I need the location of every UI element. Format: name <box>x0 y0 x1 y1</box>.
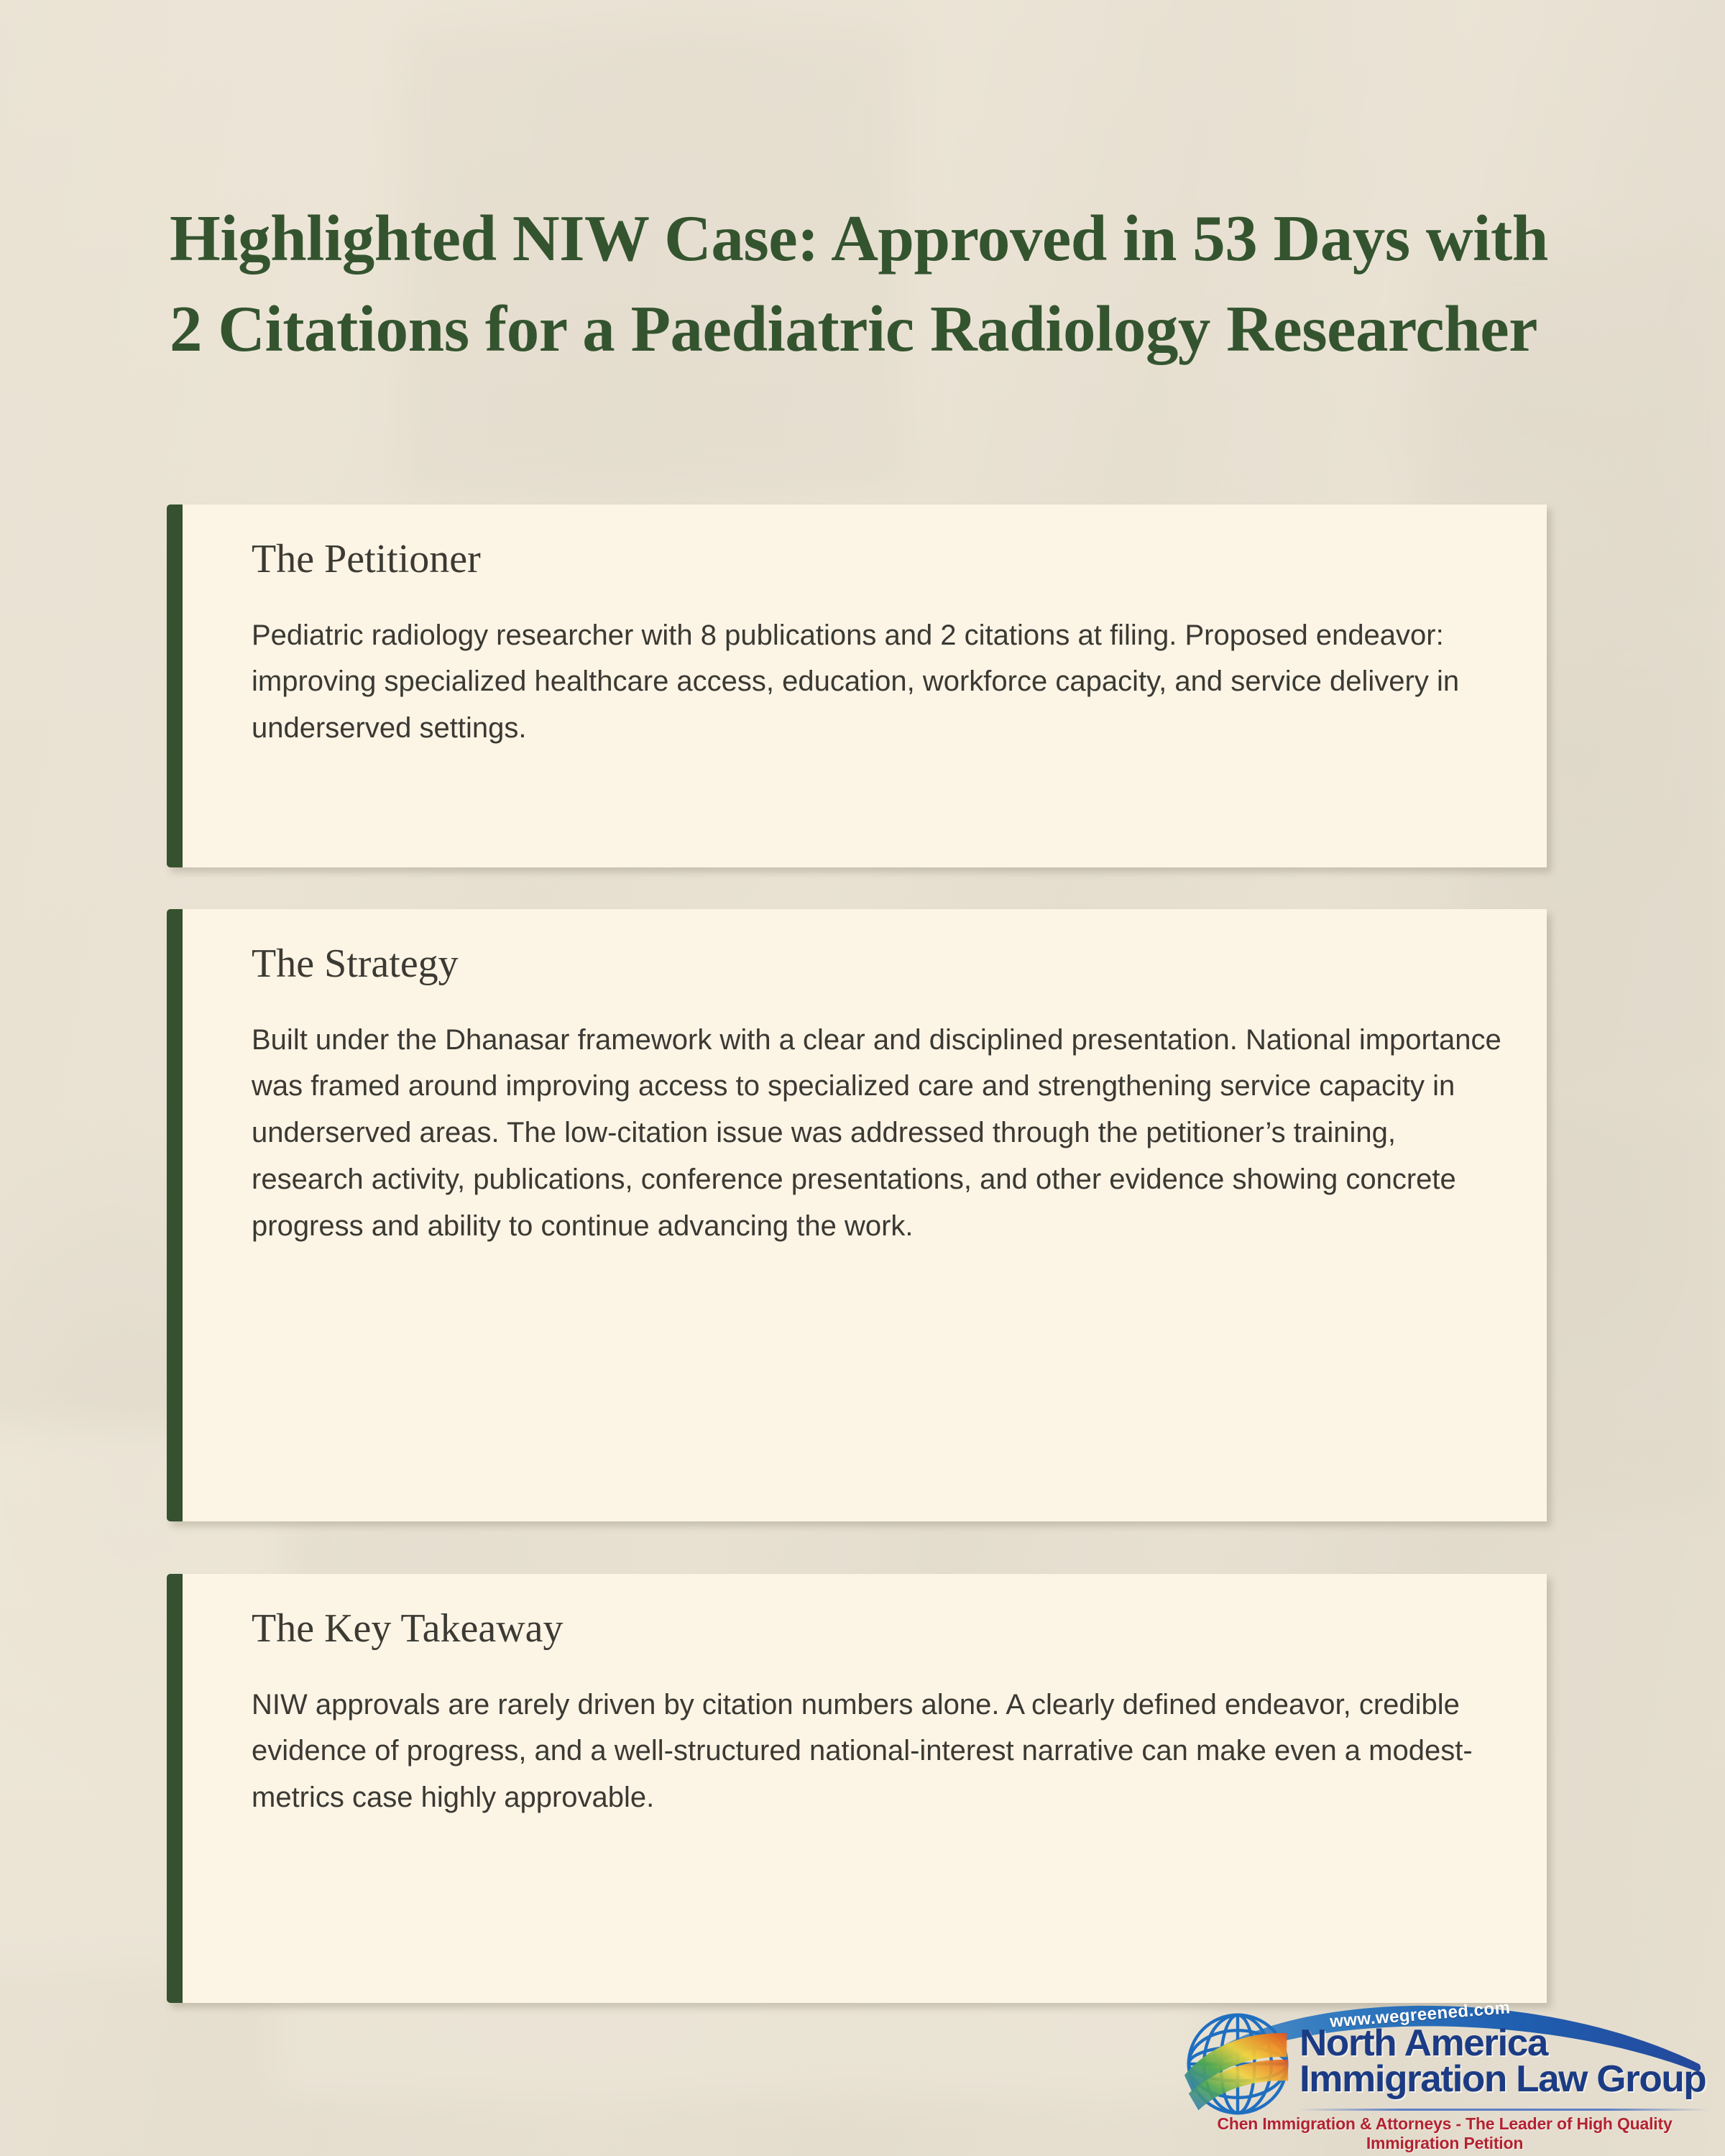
card-text: NIW approvals are rarely driven by citat… <box>252 1682 1504 1821</box>
poster-canvas: Highlighted NIW Case: Approved in 53 Day… <box>0 0 1725 2156</box>
card-body: The Key Takeaway NIW approvals are rarel… <box>183 1574 1547 2003</box>
logo-company-name: North America Immigration Law Group <box>1299 2025 1725 2098</box>
card-key-takeaway: The Key Takeaway NIW approvals are rarel… <box>167 1574 1547 2003</box>
card-heading: The Petitioner <box>252 538 1504 582</box>
card-text: Built under the Dhanasar framework with … <box>252 1017 1504 1250</box>
logo-divider <box>1298 2109 1709 2111</box>
logo-tagline: Chen Immigration & Attorneys - The Leade… <box>1179 2114 1711 2153</box>
company-logo[interactable]: www.wegreened.com <box>1177 1995 1711 2139</box>
card-text: Pediatric radiology researcher with 8 pu… <box>252 612 1504 752</box>
card-strategy: The Strategy Built under the Dhanasar fr… <box>167 909 1547 1521</box>
card-heading: The Strategy <box>252 942 1504 987</box>
card-body: The Strategy Built under the Dhanasar fr… <box>183 909 1547 1521</box>
card-accent-bar <box>167 909 183 1521</box>
globe-icon <box>1182 2008 1294 2120</box>
card-heading: The Key Takeaway <box>252 1607 1504 1651</box>
card-accent-bar <box>167 1574 183 2003</box>
page-title: Highlighted NIW Case: Approved in 53 Day… <box>170 193 1578 374</box>
card-accent-bar <box>167 505 183 867</box>
card-body: The Petitioner Pediatric radiology resea… <box>183 505 1547 867</box>
card-petitioner: The Petitioner Pediatric radiology resea… <box>167 505 1547 867</box>
